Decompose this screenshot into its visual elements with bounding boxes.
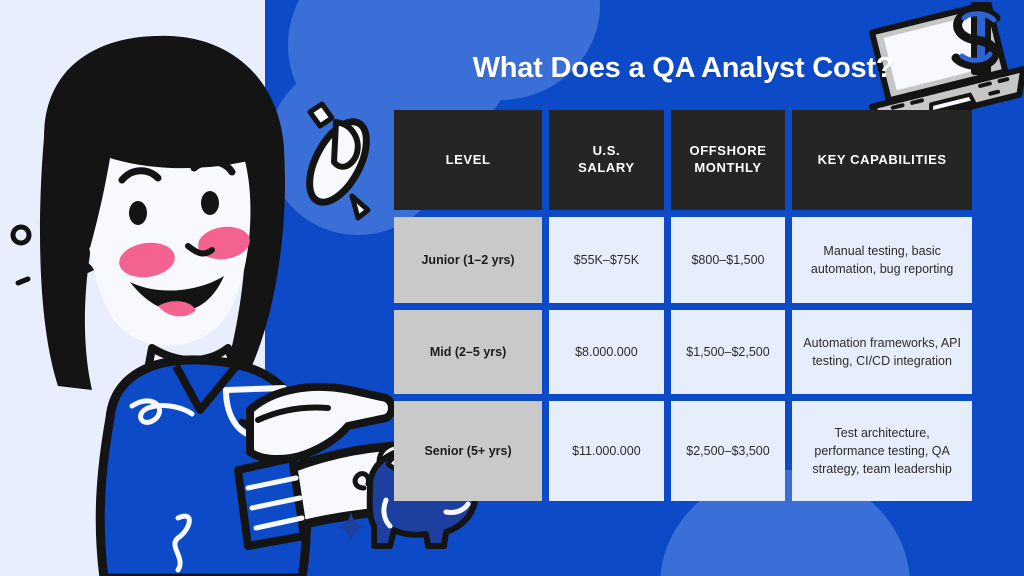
us-salary-line2: SALARY bbox=[578, 160, 635, 175]
cell-capabilities: Manual testing, basic automation, bug re… bbox=[792, 217, 972, 303]
column-header-capabilities-label: KEY CAPABILITIES bbox=[818, 152, 947, 169]
table-header-row: LEVEL U.S. SALARY OFFSHORE MONTHLY KEY C… bbox=[394, 110, 972, 210]
cell-level: Junior (1–2 yrs) bbox=[394, 217, 542, 303]
infographic-canvas: What Does a QA Analyst Cost? LEVEL U.S. … bbox=[0, 0, 1024, 576]
us-salary-line1: U.S. bbox=[593, 143, 621, 158]
cell-us-salary: $11.000.000 bbox=[549, 401, 664, 501]
pen-icon bbox=[292, 100, 384, 226]
column-header-offshore-label: OFFSHORE MONTHLY bbox=[690, 143, 767, 177]
page-title: What Does a QA Analyst Cost? bbox=[394, 52, 972, 85]
cost-comparison-table: LEVEL U.S. SALARY OFFSHORE MONTHLY KEY C… bbox=[394, 110, 972, 501]
table-row: Senior (5+ yrs) $11.000.000 $2,500–$3,50… bbox=[394, 401, 972, 501]
offshore-line2: MONTHLY bbox=[694, 160, 761, 175]
cell-offshore-monthly: $1,500–$2,500 bbox=[671, 310, 786, 394]
column-header-us-salary-label: U.S. SALARY bbox=[578, 143, 635, 177]
cell-capabilities: Automation frameworks, API testing, CI/C… bbox=[792, 310, 972, 394]
cell-offshore-monthly: $2,500–$3,500 bbox=[671, 401, 786, 501]
column-header-level-label: LEVEL bbox=[446, 152, 491, 169]
cell-us-salary: $8.000.000 bbox=[549, 310, 664, 394]
sparkle-solid-icon bbox=[334, 510, 368, 544]
column-header-key-capabilities: KEY CAPABILITIES bbox=[792, 110, 972, 210]
cell-level: Mid (2–5 yrs) bbox=[394, 310, 542, 394]
table-row: Mid (2–5 yrs) $8.000.000 $1,500–$2,500 A… bbox=[394, 310, 972, 394]
offshore-line1: OFFSHORE bbox=[690, 143, 767, 158]
column-header-level: LEVEL bbox=[394, 110, 542, 210]
column-header-us-salary: U.S. SALARY bbox=[549, 110, 664, 210]
cell-level: Senior (5+ yrs) bbox=[394, 401, 542, 501]
cell-capabilities: Test architecture, performance testing, … bbox=[792, 401, 972, 501]
column-header-offshore-monthly: OFFSHORE MONTHLY bbox=[671, 110, 786, 210]
table-row: Junior (1–2 yrs) $55K–$75K $800–$1,500 M… bbox=[394, 217, 972, 303]
cell-offshore-monthly: $800–$1,500 bbox=[671, 217, 786, 303]
cell-us-salary: $55K–$75K bbox=[549, 217, 664, 303]
